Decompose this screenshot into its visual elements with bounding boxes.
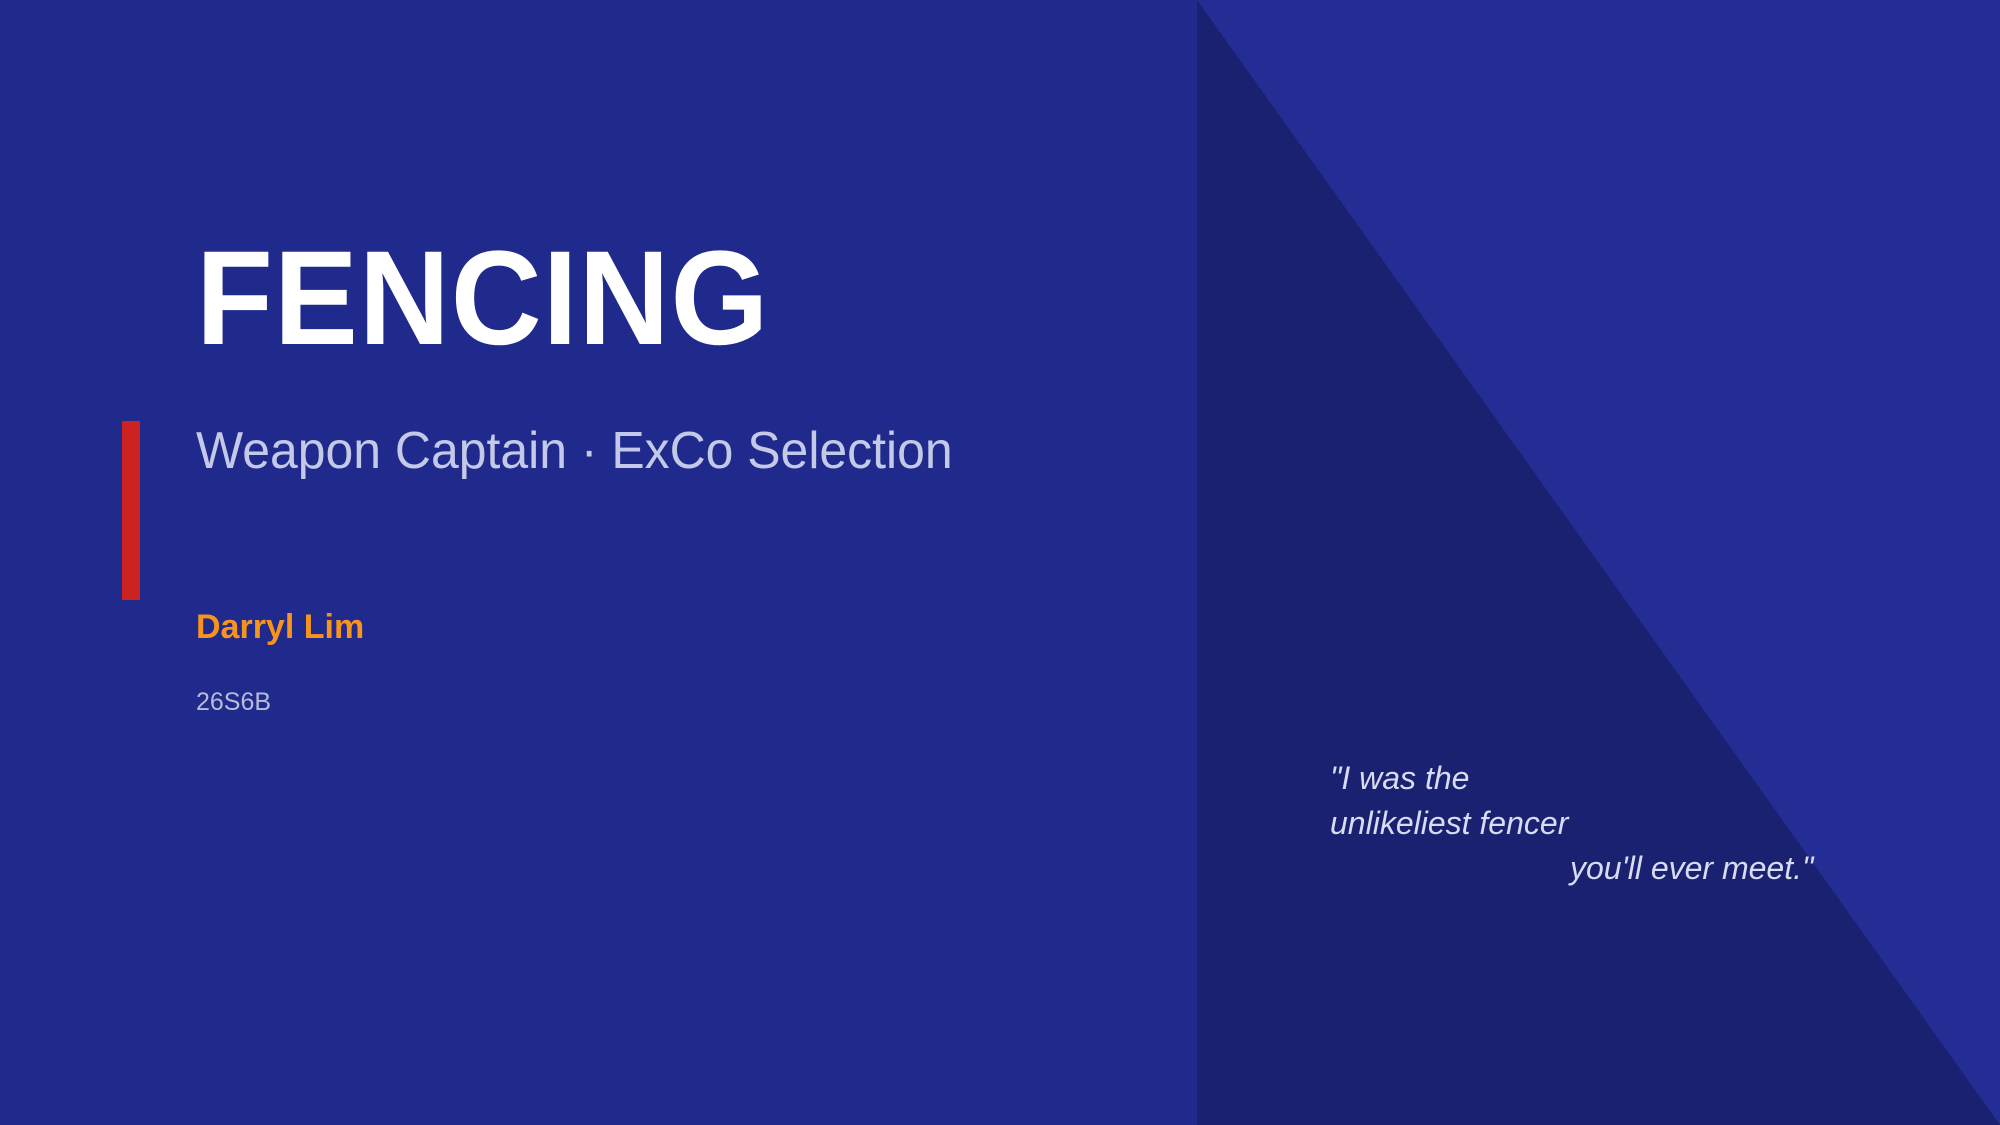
title-slide: FENCING Weapon Captain · ExCo Selection … — [0, 0, 2000, 1125]
slide-subtitle: Weapon Captain · ExCo Selection — [196, 425, 953, 477]
diagonal-wedge-shape — [1197, 0, 2000, 1125]
page-title: FENCING — [196, 232, 769, 366]
quote-line-1: "I was the — [1330, 756, 1813, 801]
presenter-block: Darryl Lim 26S6B — [196, 610, 364, 715]
title-block: FENCING — [196, 232, 806, 366]
subtitle-row: Weapon Captain · ExCo Selection — [122, 421, 984, 600]
presenter-class: 26S6B — [196, 690, 364, 715]
presenter-name: Darryl Lim — [196, 610, 364, 644]
right-panel — [1197, 0, 2000, 1125]
red-accent-bar — [122, 421, 140, 600]
quote-line-2: unlikeliest fencer — [1330, 801, 1813, 846]
quote-line-3: you'll ever meet." — [1330, 846, 1813, 891]
pull-quote: "I was the unlikeliest fencer you'll eve… — [1330, 756, 1813, 891]
